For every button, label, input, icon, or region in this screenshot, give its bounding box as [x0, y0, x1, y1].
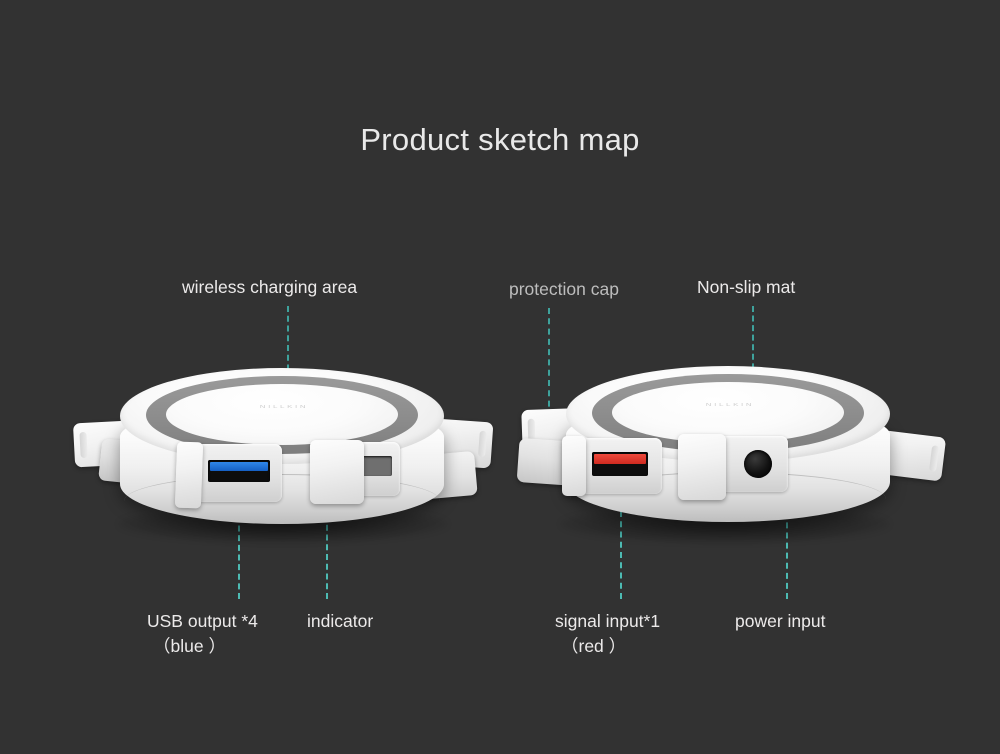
page-title: Product sketch map	[0, 122, 1000, 158]
wireless-charging-surface	[612, 382, 844, 443]
protection-cap-hinged-left	[175, 442, 203, 509]
signal-input-port-tongue-red	[594, 454, 646, 464]
brand-logo: NILLKIN	[224, 404, 344, 410]
flap-notch	[478, 431, 487, 457]
callout-indicator: indicator	[307, 609, 373, 634]
product-sketch-canvas: Product sketch map wireless charging are…	[0, 0, 1000, 754]
callout-indicator-label: indicator	[307, 611, 373, 631]
usb-port-tongue-blue	[210, 462, 268, 471]
callout-power-input: power input	[735, 609, 825, 634]
usb-port-slot	[208, 460, 270, 482]
device-front-view: NILLKIN	[72, 358, 492, 548]
protection-cap-hinged-power	[678, 434, 726, 500]
callout-usb-output-label: USB output *4	[147, 611, 258, 631]
callout-protection-cap: protection cap	[509, 277, 619, 302]
callout-power-input-label: power input	[735, 611, 825, 631]
wireless-charging-surface	[166, 384, 398, 445]
protection-cap-hinged-signal	[562, 436, 586, 496]
flap-notch	[79, 432, 87, 458]
callout-protection-cap-label: protection cap	[509, 279, 619, 299]
flap-notch	[929, 445, 939, 472]
brand-logo: NILLKIN	[670, 402, 790, 408]
callout-wireless-charging-area: wireless charging area	[182, 275, 357, 300]
callout-usb-output: USB output *4 （blue ）	[147, 609, 258, 659]
signal-input-port-bezel	[580, 438, 662, 494]
callout-signal-input: signal input*1 （red ）	[555, 609, 660, 659]
device-rear-view: NILLKIN	[518, 356, 938, 546]
usb-port-bezel	[196, 444, 282, 502]
callout-wireless-charging-area-label: wireless charging area	[182, 277, 357, 297]
callout-non-slip-mat: Non-slip mat	[697, 275, 795, 300]
power-input-dc-jack	[744, 450, 772, 478]
protection-cap-hinged-right	[310, 440, 364, 504]
signal-input-port-slot	[592, 452, 648, 476]
callout-non-slip-mat-label: Non-slip mat	[697, 277, 795, 297]
callout-signal-input-label: signal input*1	[555, 611, 660, 631]
callout-signal-input-sublabel: （red ）	[555, 634, 660, 659]
callout-usb-output-sublabel: （blue ）	[147, 634, 258, 659]
